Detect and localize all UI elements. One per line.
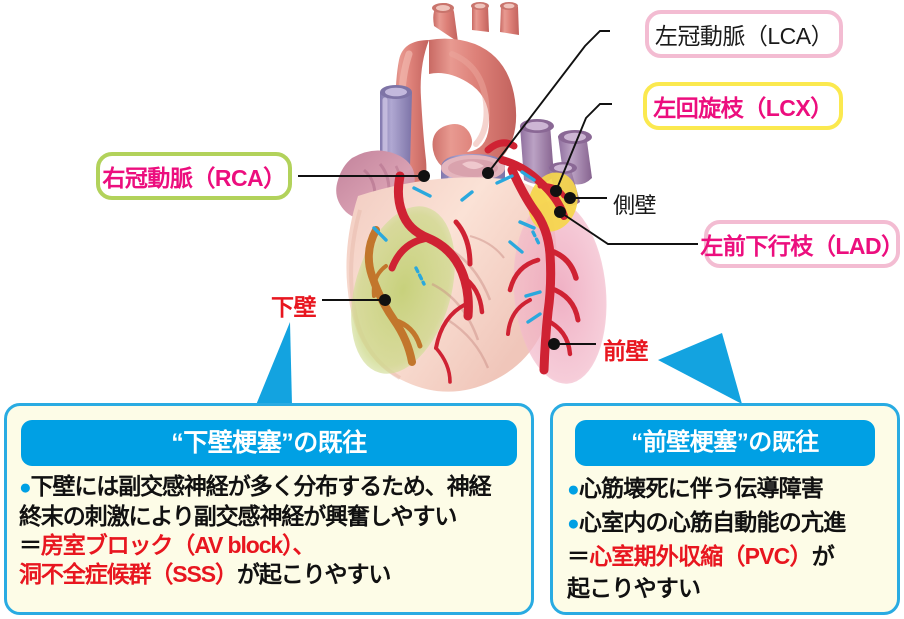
anterior-line-1-text: 心筋壊死に伴う伝導障害 xyxy=(579,475,823,501)
pointer-triangles xyxy=(256,322,742,405)
segment-tick-marks xyxy=(374,172,540,322)
label-lcx-text: 左回旋枝（LCX） xyxy=(653,89,833,123)
inferior-line-3: ＝房室ブロック（AV block）、 xyxy=(19,531,519,560)
inferior-line-1: ●下壁には副交感神経が多く分布するため、神経 xyxy=(19,472,519,502)
bullet-icon: ● xyxy=(567,512,579,535)
anterior-line-4: 起こりやすい xyxy=(567,572,887,604)
equals-sign: ＝ xyxy=(19,532,41,558)
superior-vena-cava xyxy=(380,85,412,170)
inferior-red-1: 房室ブロック（AV block）、 xyxy=(41,532,315,558)
label-lad[interactable]: 左前下行枝（LAD） xyxy=(704,220,900,268)
inferior-line-1-text: 下壁には副交感神経が多く分布するため、神経 xyxy=(31,473,491,499)
anterior-line-2-text: 心室内の心筋自動能の亢進 xyxy=(579,509,845,535)
left-circumflex-artery xyxy=(488,143,564,216)
pulmonary-veins xyxy=(520,119,592,206)
inferior-line-2: 終末の刺激により副交感神経が興奮しやすい xyxy=(19,502,519,531)
label-lcx[interactable]: 左回旋枝（LCX） xyxy=(643,82,843,130)
diagram-canvas: 左冠動脈（LCA） 左回旋枝（LCX） 左前下行枝（LAD） 右冠動脈（RCA）… xyxy=(0,0,904,619)
lateral-wall-region xyxy=(521,166,585,238)
bullet-icon: ● xyxy=(19,476,31,499)
anterior-infarction-header: “前壁梗塞”の既往 xyxy=(575,420,875,466)
inferior-red-2: 洞不全症候群（SSS） xyxy=(19,561,237,587)
label-rca[interactable]: 右冠動脈（RCA） xyxy=(96,152,292,200)
inferior-infarction-header: “下壁梗塞”の既往 xyxy=(21,420,517,466)
label-lateral-wall: 側壁 xyxy=(613,188,656,220)
pointer-to-inferior-box xyxy=(256,322,292,405)
anterior-infarction-box: “前壁梗塞”の既往 ●心筋壊死に伴う伝導障害 ●心室内の心筋自動能の亢進 ＝心室… xyxy=(550,403,900,615)
posterior-descending-branch xyxy=(369,230,420,362)
label-anterior-wall: 前壁 xyxy=(603,332,648,366)
label-rca-text: 右冠動脈（RCA） xyxy=(102,159,285,193)
anterior-tail-inline: が xyxy=(812,543,834,569)
label-lca-text: 左冠動脈（LCA） xyxy=(655,17,833,51)
anterior-infarction-body: ●心筋壊死に伴う伝導障害 ●心室内の心筋自動能の亢進 ＝心室期外収縮（PVC）が… xyxy=(553,466,897,604)
inferior-wall-region xyxy=(333,194,473,386)
label-lca[interactable]: 左冠動脈（LCA） xyxy=(645,10,843,58)
label-inferior-wall: 下壁 xyxy=(271,288,316,322)
anterior-red-1: 心室期外収縮（PVC） xyxy=(589,543,812,569)
myocardium-texture xyxy=(432,236,504,368)
pulmonary-trunk xyxy=(441,154,505,212)
inferior-infarction-box: “下壁梗塞”の既往 ●下壁には副交感神経が多く分布するため、神経 終末の刺激によ… xyxy=(4,403,534,615)
left-anterior-descending-artery xyxy=(508,170,578,370)
bullet-icon: ● xyxy=(567,478,579,501)
ventricular-mass xyxy=(346,177,556,391)
pointer-to-anterior-box xyxy=(658,333,742,404)
right-coronary-artery xyxy=(392,176,482,382)
aorta xyxy=(390,39,516,192)
aortic-arch-branches xyxy=(432,2,519,42)
label-lad-text: 左前下行枝（LAD） xyxy=(700,227,903,261)
right-atrial-appendage xyxy=(336,150,415,220)
anterior-line-2: ●心室内の心筋自動能の亢進 xyxy=(567,506,887,540)
anterior-line-3: ＝心室期外収縮（PVC）が xyxy=(567,540,887,572)
anterior-wall-region xyxy=(506,196,614,387)
inferior-infarction-body: ●下壁には副交感神経が多く分布するため、神経 終末の刺激により副交感神経が興奮し… xyxy=(7,466,531,589)
equals-sign: ＝ xyxy=(567,543,589,569)
anterior-line-1: ●心筋壊死に伴う伝導障害 xyxy=(567,472,887,506)
inferior-tail: が起こりやすい xyxy=(237,561,390,587)
inferior-line-4: 洞不全症候群（SSS）が起こりやすい xyxy=(19,560,519,589)
